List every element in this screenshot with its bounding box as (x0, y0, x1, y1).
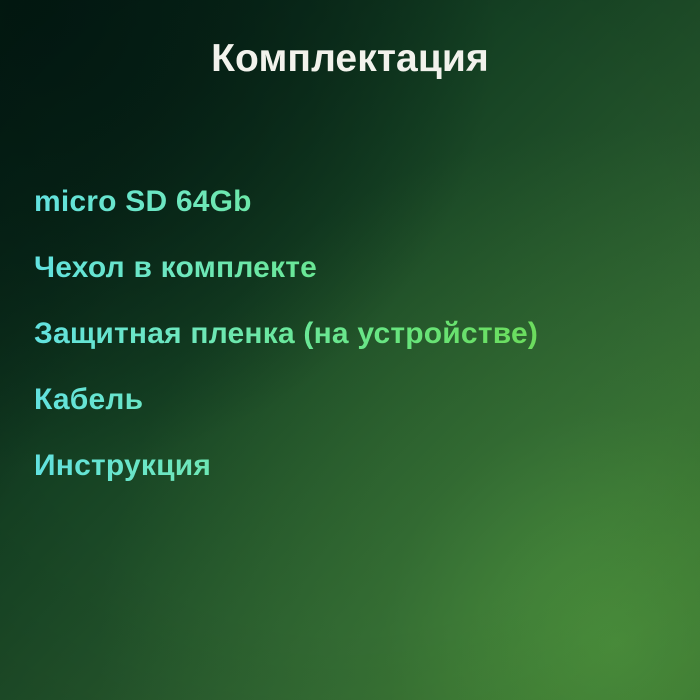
poster-content: Комплектация micro SD 64Gb Чехол в компл… (0, 0, 700, 700)
list-item: Инструкция (34, 446, 211, 512)
poster-canvas: Комплектация micro SD 64Gb Чехол в компл… (0, 0, 700, 700)
list-item: Кабель (34, 380, 143, 446)
list-item-label: Защитная пленка (на устройстве) (34, 314, 538, 354)
list-item: Защитная пленка (на устройстве) (34, 314, 538, 380)
list-item-label: Кабель (34, 380, 143, 420)
package-contents-list: micro SD 64Gb Чехол в комплекте Защитная… (34, 182, 674, 512)
list-item-label: Инструкция (34, 446, 211, 486)
page-title: Комплектация (0, 38, 700, 81)
list-item: Чехол в комплекте (34, 248, 317, 314)
list-item-label: Чехол в комплекте (34, 248, 317, 288)
list-item: micro SD 64Gb (34, 182, 252, 248)
list-item-label: micro SD 64Gb (34, 182, 252, 222)
